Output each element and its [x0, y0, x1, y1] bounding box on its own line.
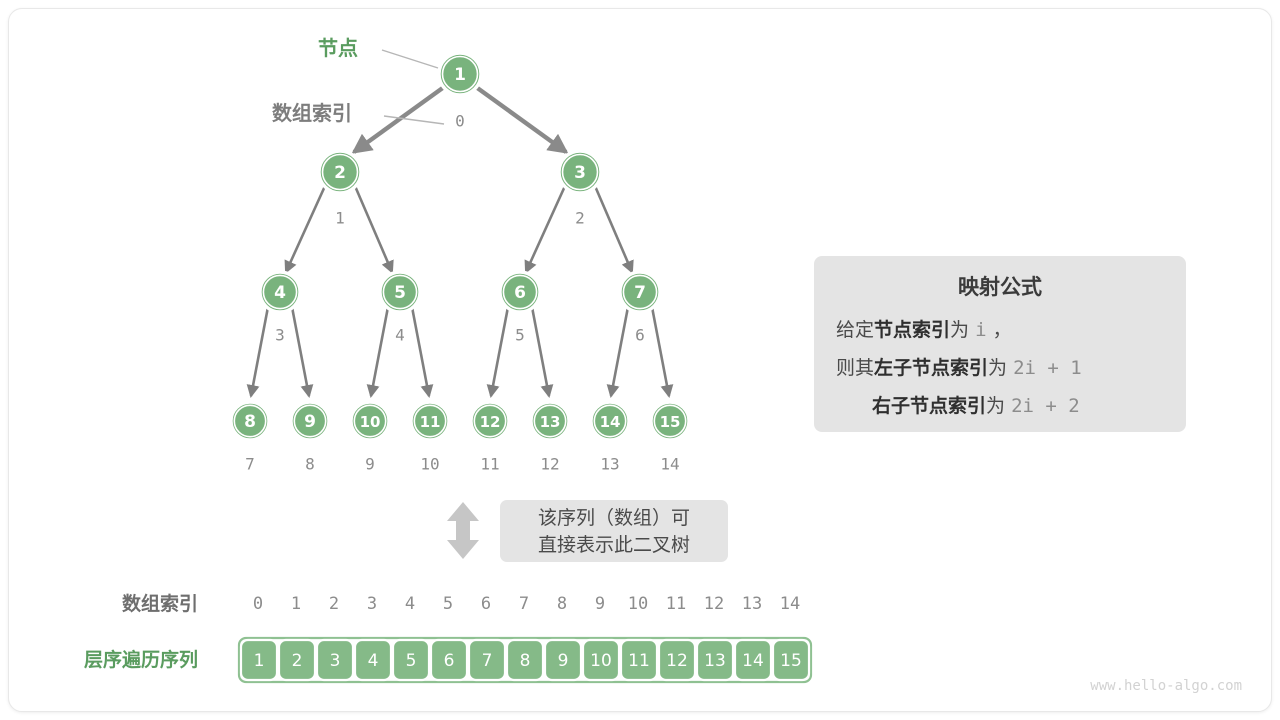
- tree-node-4[interactable]: 4: [260, 272, 300, 312]
- array-cell-value: 3: [330, 651, 341, 671]
- tree-node-value: 7: [634, 283, 646, 303]
- tree-node-12[interactable]: 12: [471, 402, 509, 440]
- array-values-row-label: 层序遍历序列: [84, 648, 198, 671]
- tree-node-value: 2: [334, 163, 346, 183]
- tree-node-14[interactable]: 14: [591, 402, 629, 440]
- node-index-3: 3: [275, 326, 285, 345]
- tree-node-value: 8: [244, 412, 256, 432]
- node-index-8: 8: [305, 455, 315, 474]
- tree-node-value: 9: [304, 412, 316, 432]
- diagram-page: 0 1 2 3 4 5 6 7 8 9 10 11 12 13 14 1: [0, 0, 1280, 720]
- node-index-0: 0: [455, 112, 465, 131]
- array-cell-value: 5: [406, 651, 417, 671]
- tree-node-value: 13: [540, 413, 561, 431]
- tree-node-value: 12: [480, 413, 501, 431]
- array-index-7: 7: [519, 594, 529, 614]
- array-index-13: 13: [742, 594, 762, 614]
- array-cell[interactable]: 1: [241, 640, 277, 680]
- tree-node-2[interactable]: 2: [319, 151, 361, 193]
- array-cell[interactable]: 14: [735, 640, 771, 680]
- array-cell[interactable]: 13: [697, 640, 733, 680]
- array-cell[interactable]: 3: [317, 640, 353, 680]
- watermark: www.hello-algo.com: [1090, 678, 1242, 694]
- array-index-9: 9: [595, 594, 605, 614]
- double-arrow-vertical-icon: [447, 502, 479, 559]
- array-cell-value: 1: [254, 651, 265, 671]
- array-index-5: 5: [443, 594, 453, 614]
- note-line-1: 该序列（数组）可: [538, 507, 690, 529]
- array-cell-value: 15: [780, 651, 802, 671]
- array-cell-value: 12: [666, 651, 688, 671]
- array-cell[interactable]: 5: [393, 640, 429, 680]
- array-cell[interactable]: 8: [507, 640, 543, 680]
- tree-node-13[interactable]: 13: [531, 402, 569, 440]
- array-index-8: 8: [557, 594, 567, 614]
- array-index-1: 1: [291, 594, 301, 614]
- array-cells: 1 2 3 4 5: [241, 640, 809, 680]
- array-cell-value: 10: [590, 651, 612, 671]
- node-index-11: 11: [480, 455, 499, 474]
- tree-node-value: 3: [574, 163, 586, 183]
- callout-node-label: 节点: [318, 36, 358, 60]
- node-index-14: 14: [660, 455, 679, 474]
- node-index-6: 6: [635, 326, 645, 345]
- tree-node-15[interactable]: 15: [651, 402, 689, 440]
- tree-node-10[interactable]: 10: [351, 402, 389, 440]
- array-index-2: 2: [329, 594, 339, 614]
- array-cell[interactable]: 12: [659, 640, 695, 680]
- tree-node-8[interactable]: 8: [231, 402, 269, 440]
- node-index-2: 2: [575, 209, 585, 228]
- tree-node-value: 14: [600, 413, 621, 431]
- tree-node-5[interactable]: 5: [380, 272, 420, 312]
- array-cell[interactable]: 11: [621, 640, 657, 680]
- formula-title: 映射公式: [958, 275, 1042, 299]
- formula-line-1: 给定节点索引为 i ，: [836, 318, 1012, 341]
- tree-node-7[interactable]: 7: [620, 272, 660, 312]
- array-index-10: 10: [628, 594, 648, 614]
- node-index-13: 13: [600, 455, 619, 474]
- array-cell[interactable]: 6: [431, 640, 467, 680]
- tree-node-value: 11: [420, 413, 441, 431]
- array-cell-value: 7: [482, 651, 493, 671]
- tree-node-3[interactable]: 3: [559, 151, 601, 193]
- tree-node-11[interactable]: 11: [411, 402, 449, 440]
- array-cell-value: 8: [520, 651, 531, 671]
- node-index-1: 1: [335, 209, 345, 228]
- callout-array-index-label: 数组索引: [272, 101, 352, 125]
- array-index-14: 14: [780, 594, 800, 614]
- diagram-callouts: 节点 数组索引: [272, 36, 444, 125]
- array-cell[interactable]: 4: [355, 640, 391, 680]
- formula-line-2: 则其左子节点索引为 2i + 1: [836, 356, 1082, 379]
- tree-node-value: 1: [454, 65, 466, 85]
- array-cell[interactable]: 2: [279, 640, 315, 680]
- array-cell-value: 14: [742, 651, 764, 671]
- array-cell[interactable]: 9: [545, 640, 581, 680]
- tree-node-9[interactable]: 9: [291, 402, 329, 440]
- array-cell[interactable]: 10: [583, 640, 619, 680]
- tree-node-value: 4: [274, 283, 286, 303]
- note-line-2: 直接表示此二叉树: [538, 534, 690, 556]
- formula-line-3: 右子节点索引为 2i + 2: [871, 394, 1080, 417]
- binary-tree-array-diagram: 0 1 2 3 4 5 6 7 8 9 10 11 12 13 14 1: [0, 0, 1280, 720]
- node-index-5: 5: [515, 326, 525, 345]
- tree-edges: [251, 87, 669, 396]
- tree-node-6[interactable]: 6: [500, 272, 540, 312]
- node-index-4: 4: [395, 326, 405, 345]
- tree-node-value: 6: [514, 283, 526, 303]
- array-index-0: 0: [253, 594, 263, 614]
- array-cell-value: 2: [292, 651, 303, 671]
- tree-node-value: 15: [660, 413, 681, 431]
- node-index-12: 12: [540, 455, 559, 474]
- array-section: 数组索引 层序遍历序列 0 1 2 3 4 5 6 7 8 9 10 11 12…: [84, 592, 811, 682]
- array-index-4: 4: [405, 594, 415, 614]
- array-index-11: 11: [666, 594, 686, 614]
- array-cell-value: 9: [558, 651, 569, 671]
- array-index-3: 3: [367, 594, 377, 614]
- array-cell[interactable]: 7: [469, 640, 505, 680]
- sequence-note: 该序列（数组）可 直接表示此二叉树: [447, 500, 728, 562]
- node-index-7: 7: [245, 455, 255, 474]
- array-cell-value: 6: [444, 651, 455, 671]
- mapping-formula-card: 映射公式 给定节点索引为 i ， 则其左子节点索引为 2i + 1 右子节点索引…: [814, 256, 1186, 432]
- node-index-9: 9: [365, 455, 375, 474]
- tree-node-1[interactable]: 1: [439, 53, 481, 95]
- array-index-row: 0 1 2 3 4 5 6 7 8 9 10 11 12 13 14: [253, 594, 800, 614]
- array-index-6: 6: [481, 594, 491, 614]
- array-index-row-label: 数组索引: [122, 592, 198, 615]
- array-cell-value: 4: [368, 651, 379, 671]
- node-index-10: 10: [420, 455, 439, 474]
- array-cell[interactable]: 15: [773, 640, 809, 680]
- callout-node-leader: [382, 50, 438, 68]
- array-cell-value: 11: [628, 651, 650, 671]
- array-index-12: 12: [704, 594, 724, 614]
- tree-node-value: 5: [394, 283, 406, 303]
- tree-node-value: 10: [360, 413, 381, 431]
- array-cell-value: 13: [704, 651, 726, 671]
